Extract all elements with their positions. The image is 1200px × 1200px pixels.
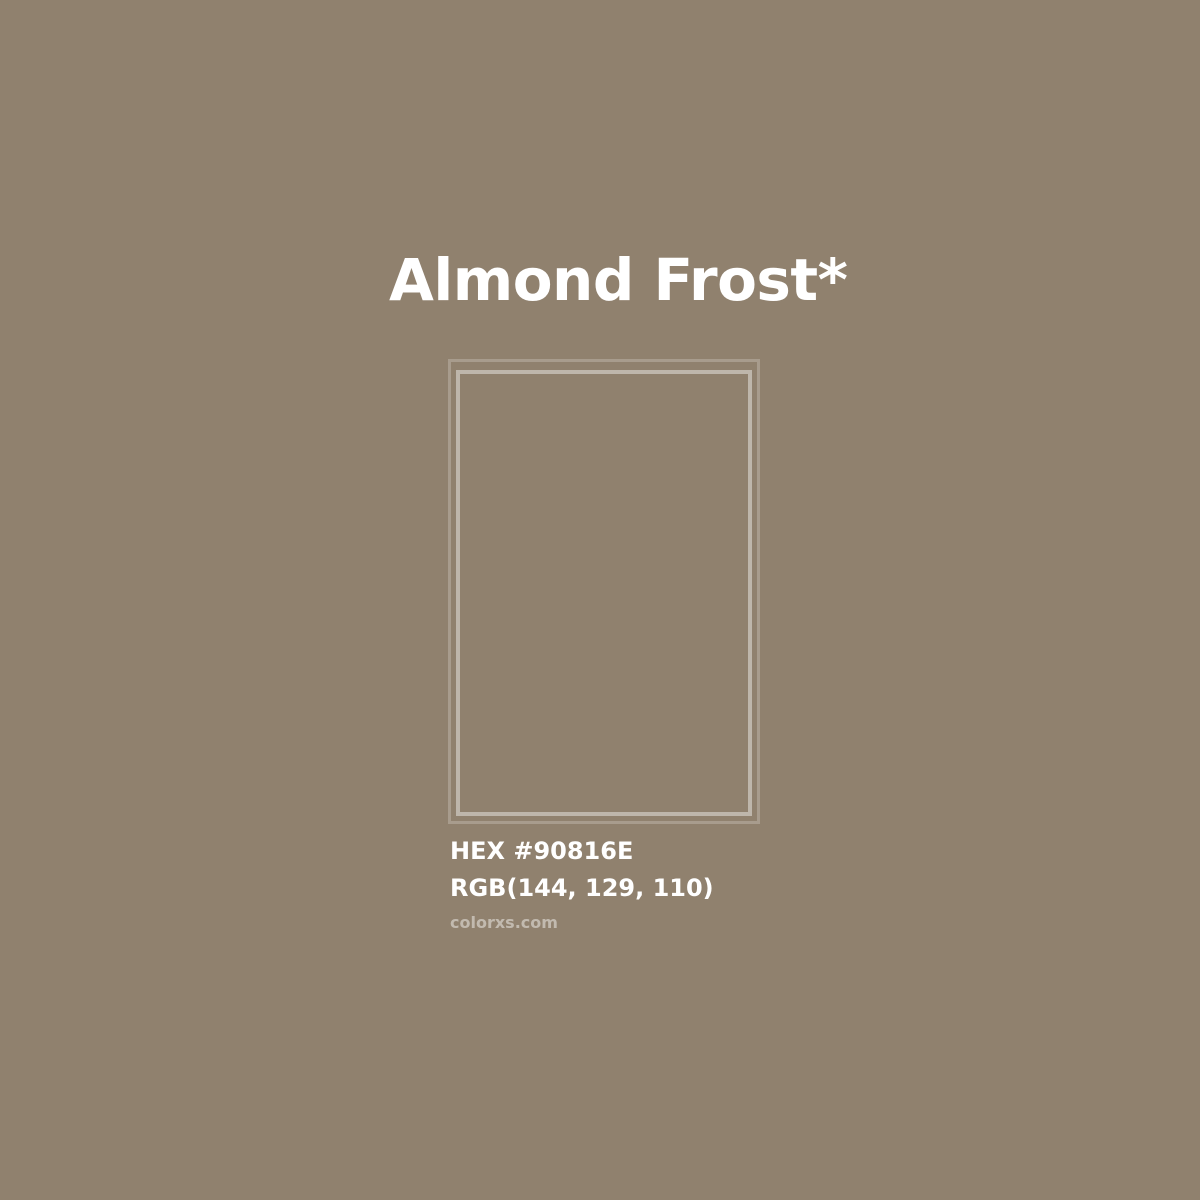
swatch-frame-inner-border xyxy=(456,370,752,816)
hex-value: HEX #90816E xyxy=(450,833,970,870)
color-value-block: HEX #90816E RGB(144, 129, 110) colorxs.c… xyxy=(450,833,970,933)
color-swatch-frame xyxy=(448,359,760,824)
site-credit: colorxs.com xyxy=(450,913,970,933)
color-swatch-page: Almond Frost* HEX #90816E RGB(144, 129, … xyxy=(0,0,1200,1200)
rgb-value: RGB(144, 129, 110) xyxy=(450,870,970,907)
page-title: Almond Frost* xyxy=(389,248,848,312)
